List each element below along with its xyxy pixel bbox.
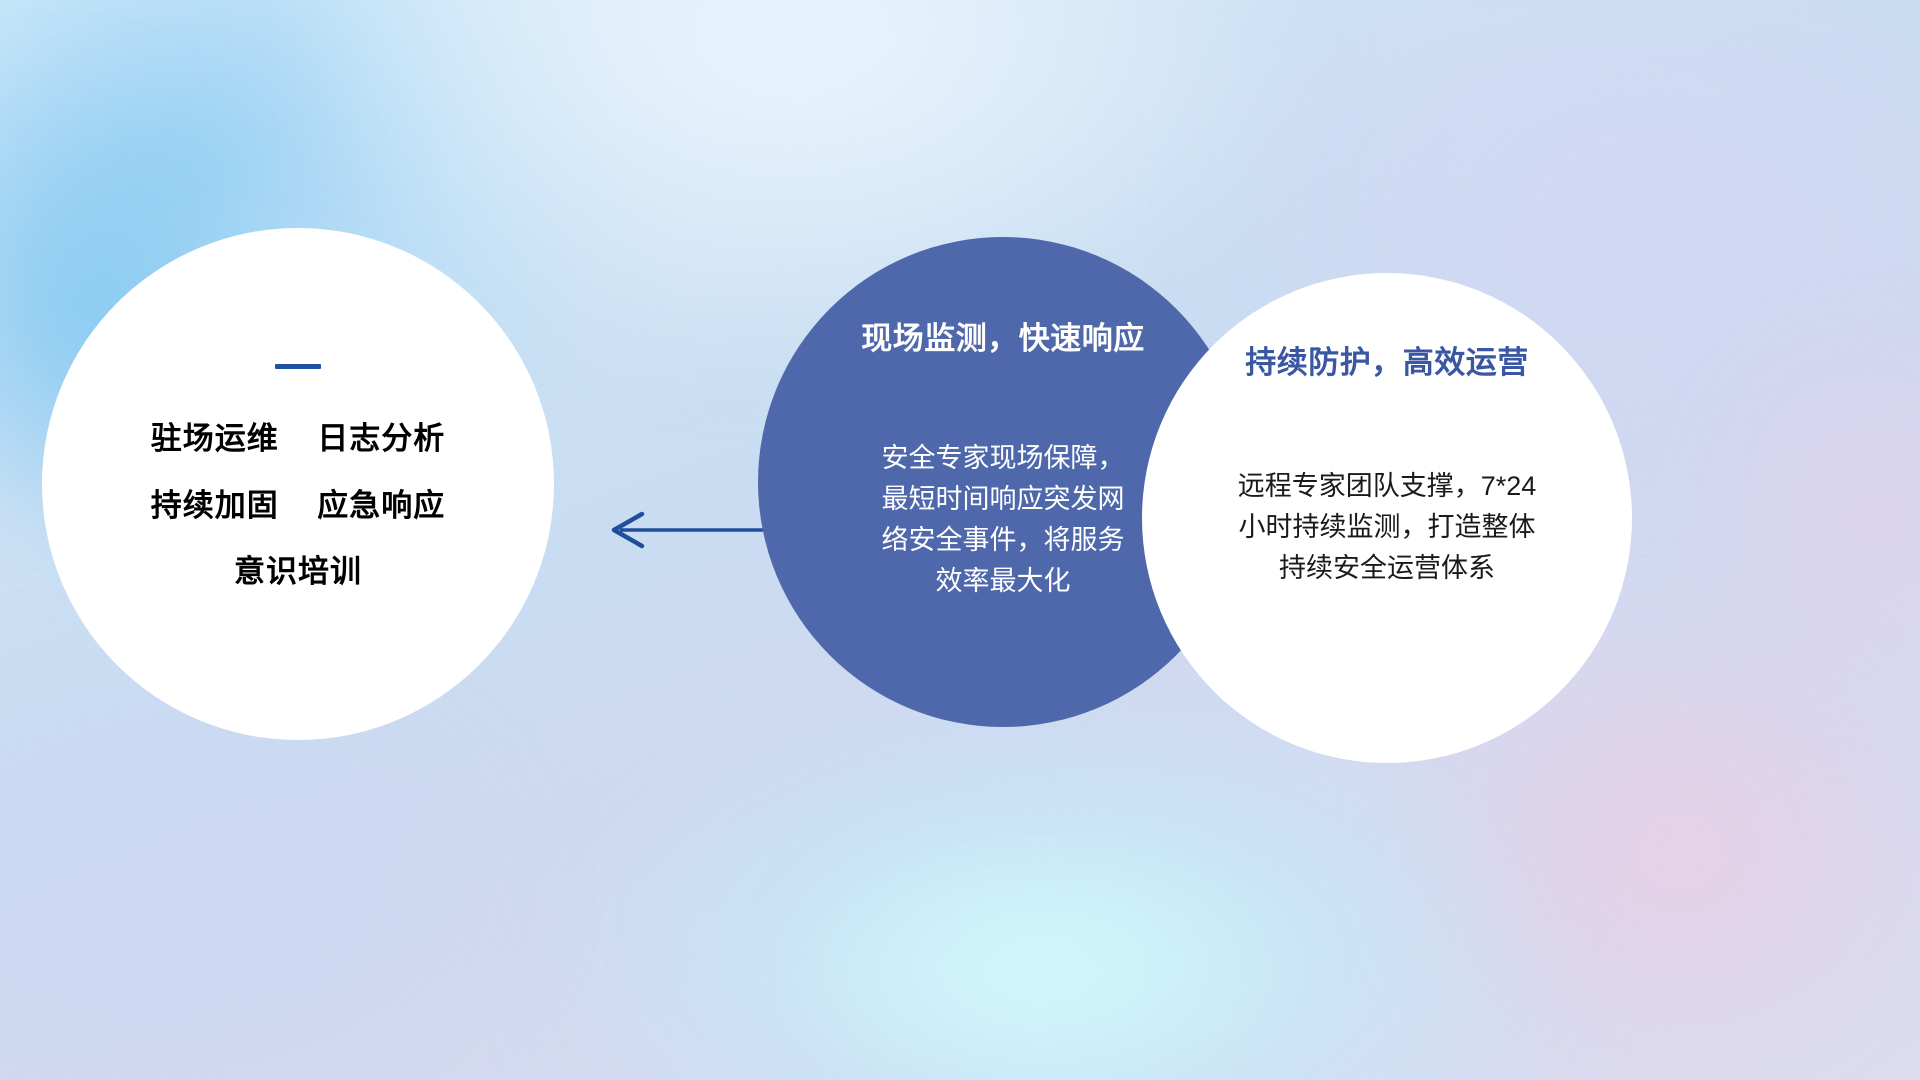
middle-circle-body: 安全专家现场保障， 最短时间响应突发网 络安全事件，将服务 效率最大化 xyxy=(838,438,1168,602)
right-circle-continuous-protection[interactable]: 持续防护，高效运营 远程专家团队支撑，7*24 小时持续监测，打造整体 持续安全… xyxy=(1142,273,1632,763)
right-circle-body: 远程专家团队支撑，7*24 小时持续监测，打造整体 持续安全运营体系 xyxy=(1187,466,1587,589)
middle-body-line-4: 效率最大化 xyxy=(838,561,1168,602)
middle-circle-title: 现场监测，快速响应 xyxy=(861,313,1145,358)
right-body-line-1: 远程专家团队支撑，7*24 xyxy=(1187,466,1587,507)
right-body-line-2: 小时持续监测，打造整体 xyxy=(1187,507,1587,548)
left-circle-keywords[interactable]: 驻场运维 日志分析 持续加固 应急响应 意识培训 xyxy=(42,228,554,740)
background-glow-bottom-core xyxy=(760,820,1320,1080)
slide-canvas: 驻场运维 日志分析 持续加固 应急响应 意识培训 现场监测，快速响应 安全专家现… xyxy=(0,0,1920,1080)
right-circle-title: 持续防护，高效运营 xyxy=(1245,337,1529,382)
middle-body-line-3: 络安全事件，将服务 xyxy=(838,520,1168,561)
middle-body-line-1: 安全专家现场保障， xyxy=(838,438,1168,479)
right-body-line-3: 持续安全运营体系 xyxy=(1187,548,1587,589)
background-glow-pink-upper xyxy=(1680,300,1920,720)
middle-body-line-2: 最短时间响应突发网 xyxy=(838,479,1168,520)
keyword-line-3: 意识培训 xyxy=(234,556,362,589)
keyword-line-1: 驻场运维 日志分析 xyxy=(151,423,445,456)
divider-dash xyxy=(275,364,321,369)
keyword-line-2: 持续加固 应急响应 xyxy=(151,490,445,523)
